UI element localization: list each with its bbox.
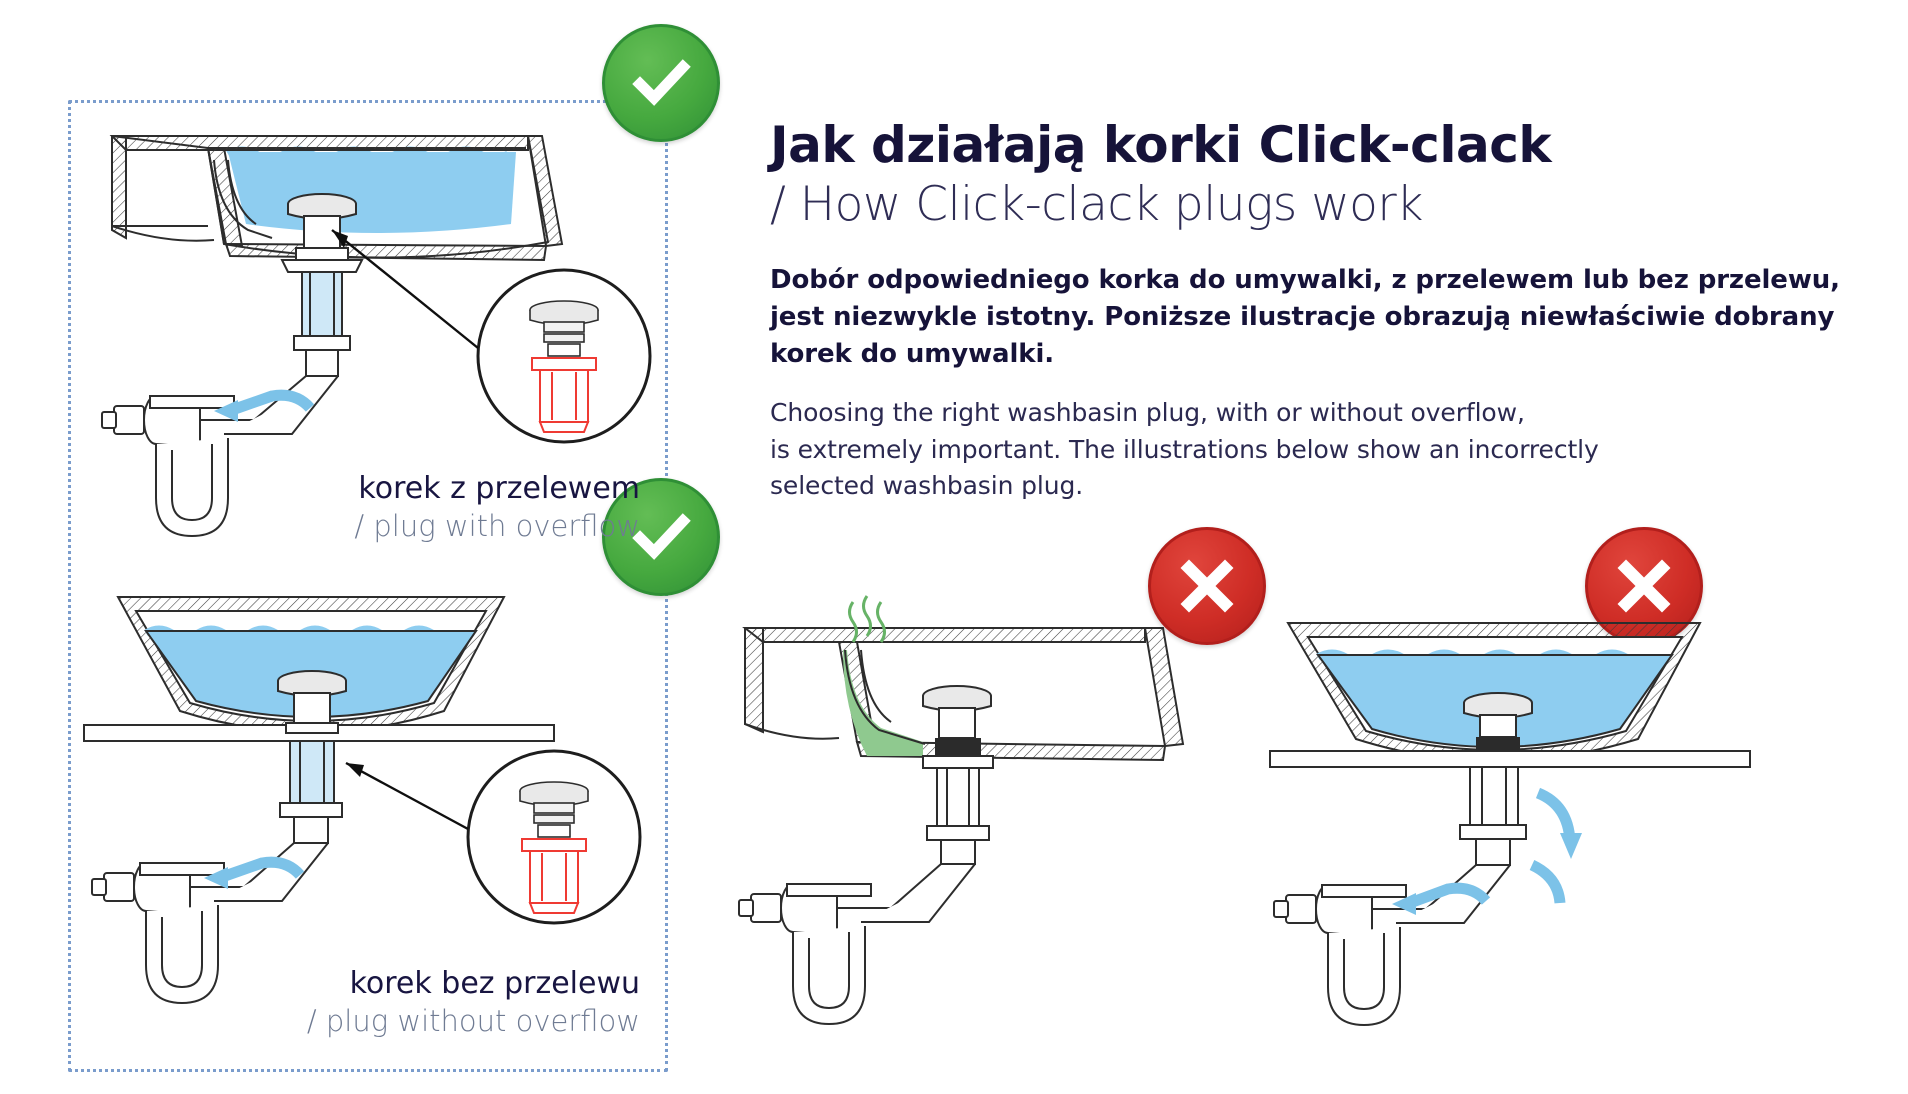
plug-seal	[1476, 737, 1520, 751]
infographic-canvas: Jak działają korki Click-clack / How Cli…	[0, 0, 1908, 1094]
illustration-basin-with-overflow-correct	[96, 120, 656, 560]
lead-pl-line-2: jest niezwykle istotny. Poniższe ilustra…	[770, 299, 1860, 336]
page-title-pl: Jak działają korki Click-clack	[770, 118, 1860, 173]
siphon-trap	[739, 864, 975, 1024]
lead-en-line-1: Choosing the right washbasin plug, with …	[770, 395, 1860, 432]
detail-plug-body-red	[532, 358, 596, 432]
illustration-basin-without-overflow-correct	[84, 585, 664, 1055]
illustration-basin-with-overflow-wrong	[735, 620, 1235, 1040]
check-icon	[628, 50, 694, 116]
lead-paragraph-en: Choosing the right washbasin plug, with …	[770, 395, 1860, 505]
drain-water	[302, 272, 342, 336]
detail-inset	[468, 751, 640, 923]
page-title-en: / How Click-clack plugs work	[770, 177, 1860, 232]
lead-en-line-3: selected washbasin plug.	[770, 468, 1860, 505]
drain-assembly	[923, 686, 993, 864]
countertop	[1270, 751, 1750, 767]
drain-water	[290, 741, 334, 803]
cross-icon	[1178, 557, 1236, 615]
cross-icon	[1615, 557, 1673, 615]
lead-pl-line-1: Dobór odpowiedniego korka do umywalki, z…	[770, 262, 1860, 299]
lead-pl-line-3: korek do umywalki.	[770, 336, 1860, 373]
detail-plug-body-red	[522, 839, 586, 913]
callout-line	[346, 763, 468, 829]
illustration-basin-without-overflow-wrong	[1270, 615, 1810, 1045]
detail-inset	[478, 270, 650, 442]
plug-seal	[935, 738, 981, 756]
lead-paragraph-pl: Dobór odpowiedniego korka do umywalki, z…	[770, 262, 1860, 373]
lead-en-line-2: is extremely important. The illustration…	[770, 432, 1860, 469]
text-column: Jak działają korki Click-clack / How Cli…	[770, 118, 1860, 505]
